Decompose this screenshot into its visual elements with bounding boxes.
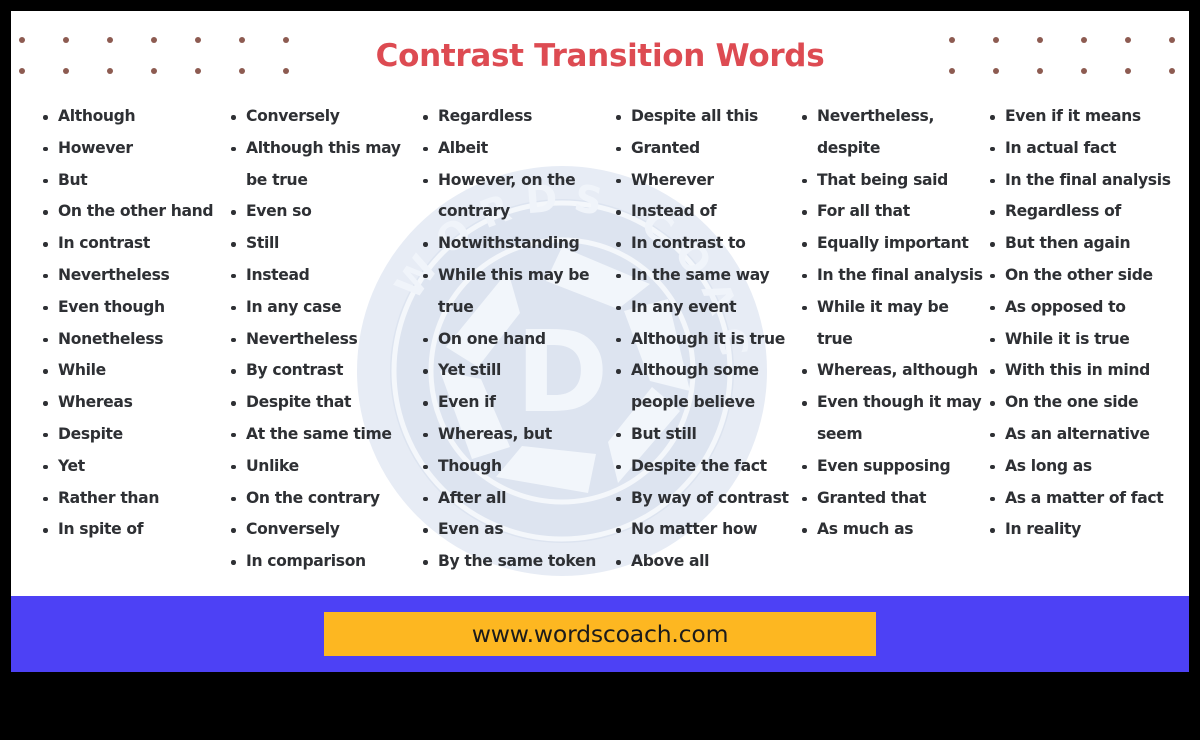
word-list-item: Wherever — [614, 165, 800, 197]
word-list-item: Though — [421, 451, 614, 483]
word-list-item: No matter how — [614, 514, 800, 546]
word-list-item: Instead — [229, 260, 421, 292]
page-title: Contrast Transition Words — [11, 38, 1189, 74]
word-list-item: In comparison — [229, 546, 421, 578]
word-list-item: Although some people believe — [614, 355, 800, 419]
word-list-item: While it is true — [988, 324, 1188, 356]
word-list-5: Nevertheless, despiteThat being saidFor … — [800, 101, 988, 546]
word-column-5: Nevertheless, despiteThat being saidFor … — [800, 101, 988, 546]
word-list-item: As an alternative — [988, 419, 1188, 451]
word-list-item: Albeit — [421, 133, 614, 165]
word-list-2: ConverselyAlthough this may be trueEven … — [229, 101, 421, 578]
word-column-4: Despite all thisGrantedWhereverInstead o… — [614, 101, 800, 578]
word-list-item: In the final analysis — [988, 165, 1188, 197]
word-column-1: AlthoughHoweverButOn the other handIn co… — [41, 101, 229, 546]
word-list-item: Even though — [41, 292, 229, 324]
word-list-item: Even supposing — [800, 451, 988, 483]
word-list-item: Nonetheless — [41, 324, 229, 356]
word-list-item: Whereas, but — [421, 419, 614, 451]
word-list-item: Despite that — [229, 387, 421, 419]
word-list-item: For all that — [800, 196, 988, 228]
word-list-item: In the same way — [614, 260, 800, 292]
word-list-item: In any case — [229, 292, 421, 324]
poster-root: D WORDS COACH Contrast Transition Words … — [0, 0, 1200, 740]
word-list-item: In any event — [614, 292, 800, 324]
word-list-item: As much as — [800, 514, 988, 546]
word-list-item: Conversely — [229, 101, 421, 133]
word-list-item: In contrast — [41, 228, 229, 260]
word-list-item: However, on the contrary — [421, 165, 614, 229]
word-list-item: Despite the fact — [614, 451, 800, 483]
word-list-item: Still — [229, 228, 421, 260]
word-list-item: On the other hand — [41, 196, 229, 228]
word-list-item: However — [41, 133, 229, 165]
word-list-item: Although it is true — [614, 324, 800, 356]
word-column-3: RegardlessAlbeitHowever, on the contrary… — [421, 101, 614, 578]
word-list-item: But still — [614, 419, 800, 451]
word-list-item: Although — [41, 101, 229, 133]
word-list-item: While this may be true — [421, 260, 614, 324]
word-list-item: Even if it means — [988, 101, 1188, 133]
word-list-item: While it may be true — [800, 292, 988, 356]
word-list-item: On one hand — [421, 324, 614, 356]
word-list-item: In spite of — [41, 514, 229, 546]
word-list-item: Despite all this — [614, 101, 800, 133]
word-list-item: Even though it may seem — [800, 387, 988, 451]
word-list-item: Unlike — [229, 451, 421, 483]
word-list-item: Despite — [41, 419, 229, 451]
word-list-item: Although this may be true — [229, 133, 421, 197]
word-list-item: Even so — [229, 196, 421, 228]
word-list-item: By way of contrast — [614, 483, 800, 515]
word-list-item: As a matter of fact — [988, 483, 1188, 515]
word-list-item: In reality — [988, 514, 1188, 546]
word-list-6: Even if it meansIn actual factIn the fin… — [988, 101, 1188, 546]
word-list-item: While — [41, 355, 229, 387]
website-url-text: www.wordscoach.com — [472, 620, 729, 648]
word-list-item: At the same time — [229, 419, 421, 451]
content-card: D WORDS COACH Contrast Transition Words … — [11, 11, 1189, 596]
word-list-item: Even if — [421, 387, 614, 419]
word-list-item: As long as — [988, 451, 1188, 483]
word-list-item: By the same token — [421, 546, 614, 578]
word-list-item: Nevertheless, despite — [800, 101, 988, 165]
word-list-item: Granted — [614, 133, 800, 165]
word-list-4: Despite all thisGrantedWhereverInstead o… — [614, 101, 800, 578]
word-columns: AlthoughHoweverButOn the other handIn co… — [41, 101, 1181, 578]
word-list-item: In the final analysis — [800, 260, 988, 292]
word-list-1: AlthoughHoweverButOn the other handIn co… — [41, 101, 229, 546]
word-list-item: Whereas — [41, 387, 229, 419]
word-list-item: On the one side — [988, 387, 1188, 419]
word-list-item: Equally important — [800, 228, 988, 260]
word-list-item: As opposed to — [988, 292, 1188, 324]
word-list-item: Conversely — [229, 514, 421, 546]
word-column-6: Even if it meansIn actual factIn the fin… — [988, 101, 1188, 546]
word-list-item: Notwithstanding — [421, 228, 614, 260]
word-list-item: Granted that — [800, 483, 988, 515]
word-list-item: In contrast to — [614, 228, 800, 260]
word-list-item: Nevertheless — [229, 324, 421, 356]
word-list-item: Yet — [41, 451, 229, 483]
word-list-item: On the other side — [988, 260, 1188, 292]
word-list-item: Even as — [421, 514, 614, 546]
word-list-item: Nevertheless — [41, 260, 229, 292]
footer-bar: www.wordscoach.com — [11, 596, 1189, 672]
word-list-item: Whereas, although — [800, 355, 988, 387]
word-list-item: Instead of — [614, 196, 800, 228]
word-list-item: Regardless — [421, 101, 614, 133]
word-list-item: Rather than — [41, 483, 229, 515]
word-list-item: That being said — [800, 165, 988, 197]
word-list-item: On the contrary — [229, 483, 421, 515]
word-column-2: ConverselyAlthough this may be trueEven … — [229, 101, 421, 578]
word-list-item: After all — [421, 483, 614, 515]
word-list-item: In actual fact — [988, 133, 1188, 165]
word-list-3: RegardlessAlbeitHowever, on the contrary… — [421, 101, 614, 578]
word-list-item: With this in mind — [988, 355, 1188, 387]
word-list-item: By contrast — [229, 355, 421, 387]
word-list-item: Regardless of — [988, 196, 1188, 228]
word-list-item: Above all — [614, 546, 800, 578]
word-list-item: But then again — [988, 228, 1188, 260]
word-list-item: But — [41, 165, 229, 197]
website-url-box[interactable]: www.wordscoach.com — [324, 612, 876, 656]
word-list-item: Yet still — [421, 355, 614, 387]
